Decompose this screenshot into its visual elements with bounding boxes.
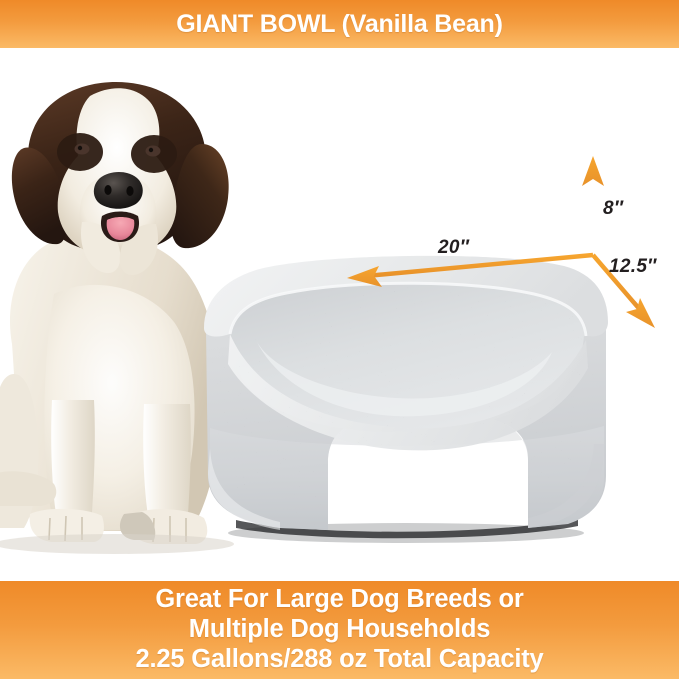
footer-banner: Great For Large Dog Breeds or Multiple D…	[0, 581, 679, 679]
dimension-label-depth: 12.5″	[609, 256, 657, 278]
page-title: GIANT BOWL (Vanilla Bean)	[176, 10, 503, 38]
dimension-label-width: 20″	[438, 237, 469, 259]
product-image: GIANT BOWL (Vanilla Bean)	[0, 0, 679, 679]
dog-left-nostril	[104, 185, 111, 195]
dimension-label-height: 8″	[603, 198, 623, 220]
dog-left-pupil	[78, 146, 82, 150]
dog-nose	[94, 172, 143, 209]
footer-line-3: 2.25 Gallons/288 oz Total Capacity	[136, 644, 544, 674]
header-banner: GIANT BOWL (Vanilla Bean)	[0, 0, 679, 48]
dog-left-eye	[75, 144, 90, 155]
width-arrow-shaft	[366, 255, 593, 276]
dog-right-eye	[146, 146, 161, 157]
dimension-arrows	[330, 98, 679, 348]
footer-line-2: Multiple Dog Households	[189, 614, 490, 644]
dimension-diagram: 20″ 8″ 12.5″	[330, 98, 679, 348]
dog-right-nostril	[126, 186, 133, 196]
dog-right-pupil	[149, 148, 153, 152]
product-photo-stage: 20″ 8″ 12.5″	[0, 48, 679, 581]
footer-line-1: Great For Large Dog Breeds or	[155, 584, 523, 614]
depth-arrow-head	[626, 298, 655, 328]
